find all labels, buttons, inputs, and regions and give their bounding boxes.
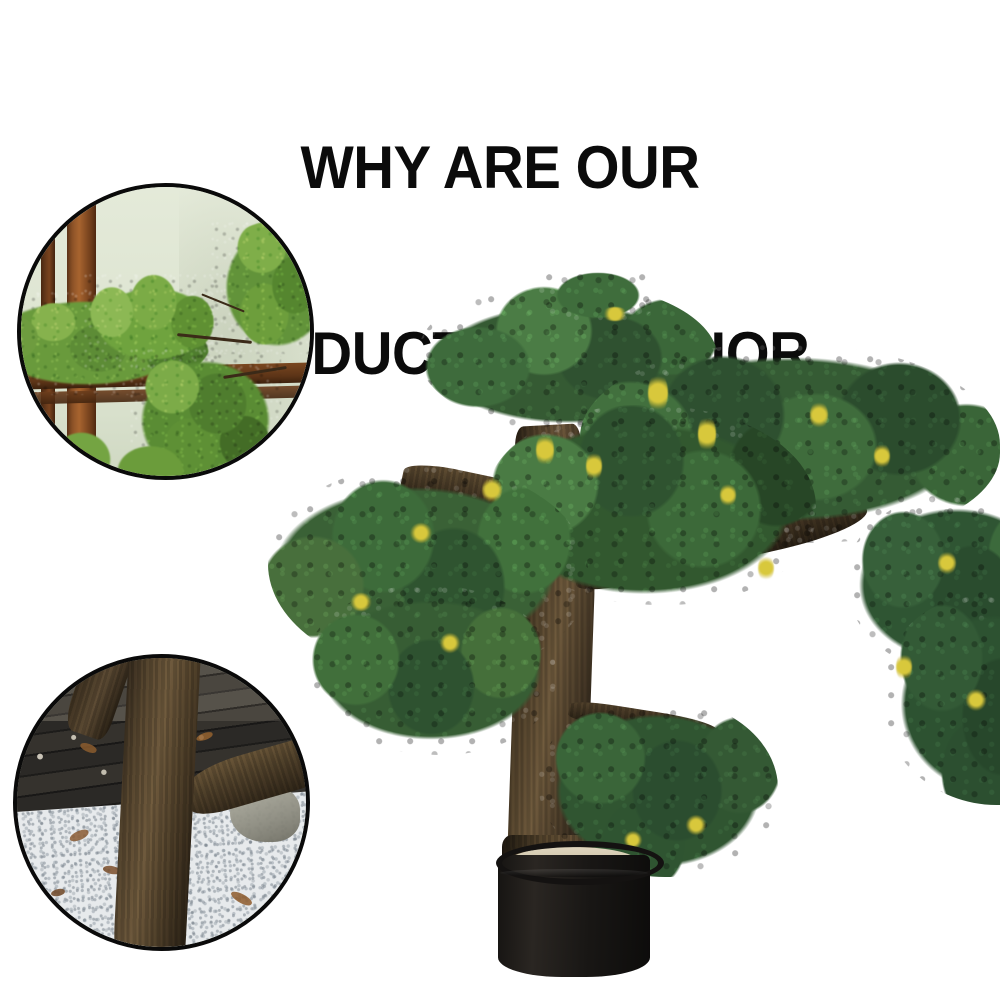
flower-cluster — [350, 593, 372, 611]
flower-cluster — [758, 555, 774, 581]
flower-cluster — [720, 483, 736, 507]
flower-cluster — [586, 451, 602, 481]
flower-cluster — [698, 415, 716, 453]
flower-cluster — [874, 443, 890, 469]
flower-cluster — [938, 551, 956, 575]
flower-cluster — [482, 477, 502, 503]
artificial-bonsai-tree — [250, 255, 1000, 1000]
flower-cluster — [686, 815, 706, 835]
flower-cluster — [810, 401, 828, 429]
flower-cluster — [896, 653, 912, 681]
pot-rim-shadow — [500, 869, 648, 877]
flower-cluster — [602, 307, 628, 321]
pot-rim — [496, 841, 664, 885]
flower-cluster — [410, 523, 432, 543]
leaf-texture — [306, 585, 556, 755]
foliage-left-lower — [306, 585, 556, 755]
flower-cluster — [536, 433, 554, 467]
flower-cluster — [648, 373, 668, 413]
flower-cluster — [966, 689, 986, 711]
infographic-canvas: WHY ARE OUR PRODUCTS SUPERIOR — [0, 0, 1000, 1000]
flower-cluster — [440, 633, 460, 653]
